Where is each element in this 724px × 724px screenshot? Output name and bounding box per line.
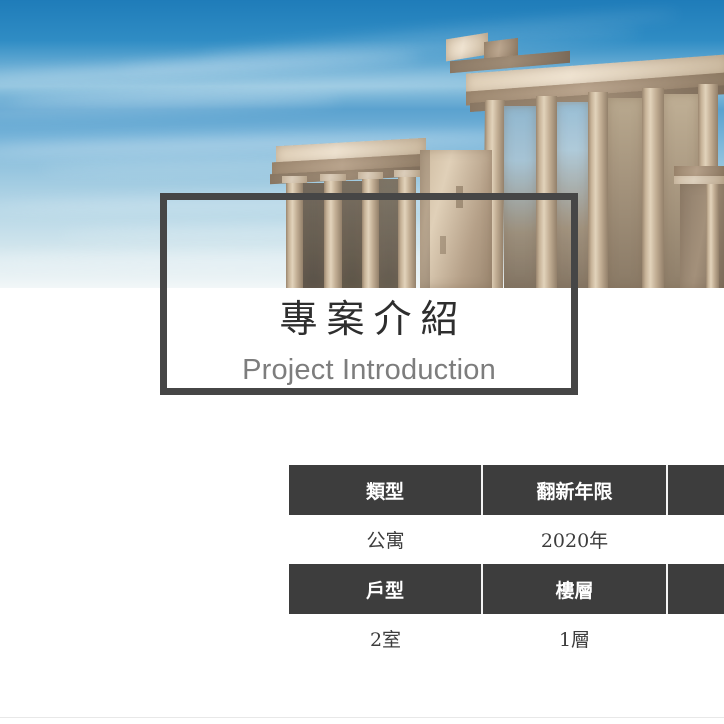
description-line: 窗，開放式廚房。 bbox=[0, 613, 165, 645]
table-cell-renovation-year-value: 2020年 bbox=[482, 515, 667, 564]
table-cell-overflow-value bbox=[667, 614, 724, 663]
description-line: 房產增值空間大。 bbox=[0, 518, 165, 550]
table-header-cell-type: 類型 bbox=[289, 465, 482, 515]
description-line: 史古跡、旅遊景 bbox=[0, 487, 165, 519]
property-info-table-secondary: 戶型 樓層 2室 1層 bbox=[289, 564, 724, 663]
table-header-cell-overflow bbox=[667, 465, 724, 515]
table-header-cell-unit-layout: 戶型 bbox=[289, 564, 482, 614]
table-header-row: 戶型 樓層 bbox=[289, 564, 724, 614]
property-info-table-primary: 類型 翻新年限 公寓 2020年 bbox=[289, 465, 724, 564]
table-row: 2室 1層 bbox=[289, 614, 724, 663]
title-frame-box bbox=[160, 193, 578, 395]
table-header-cell-renovation-year: 翻新年限 bbox=[482, 465, 667, 515]
description-line: 修，2間臥室，1 bbox=[0, 550, 165, 582]
project-description: Patisia區，地理 史古跡、旅遊景 房產增值空間大。 修，2間臥室，1 去像… bbox=[0, 455, 165, 644]
description-line: Patisia區，地理 bbox=[0, 455, 165, 487]
table-cell-unit-layout-value: 2室 bbox=[289, 614, 482, 663]
table-cell-floor-value: 1層 bbox=[482, 614, 667, 663]
table-header-row: 類型 翻新年限 bbox=[289, 465, 724, 515]
page-bottom-rule bbox=[0, 717, 724, 718]
table-row: 公寓 2020年 bbox=[289, 515, 724, 564]
table-header-cell-floor: 樓層 bbox=[482, 564, 667, 614]
table-cell-type-value: 公寓 bbox=[289, 515, 482, 564]
table-cell-overflow-value bbox=[667, 515, 724, 564]
description-line: 去像個小院子） bbox=[0, 581, 165, 613]
table-header-cell-overflow bbox=[667, 564, 724, 614]
